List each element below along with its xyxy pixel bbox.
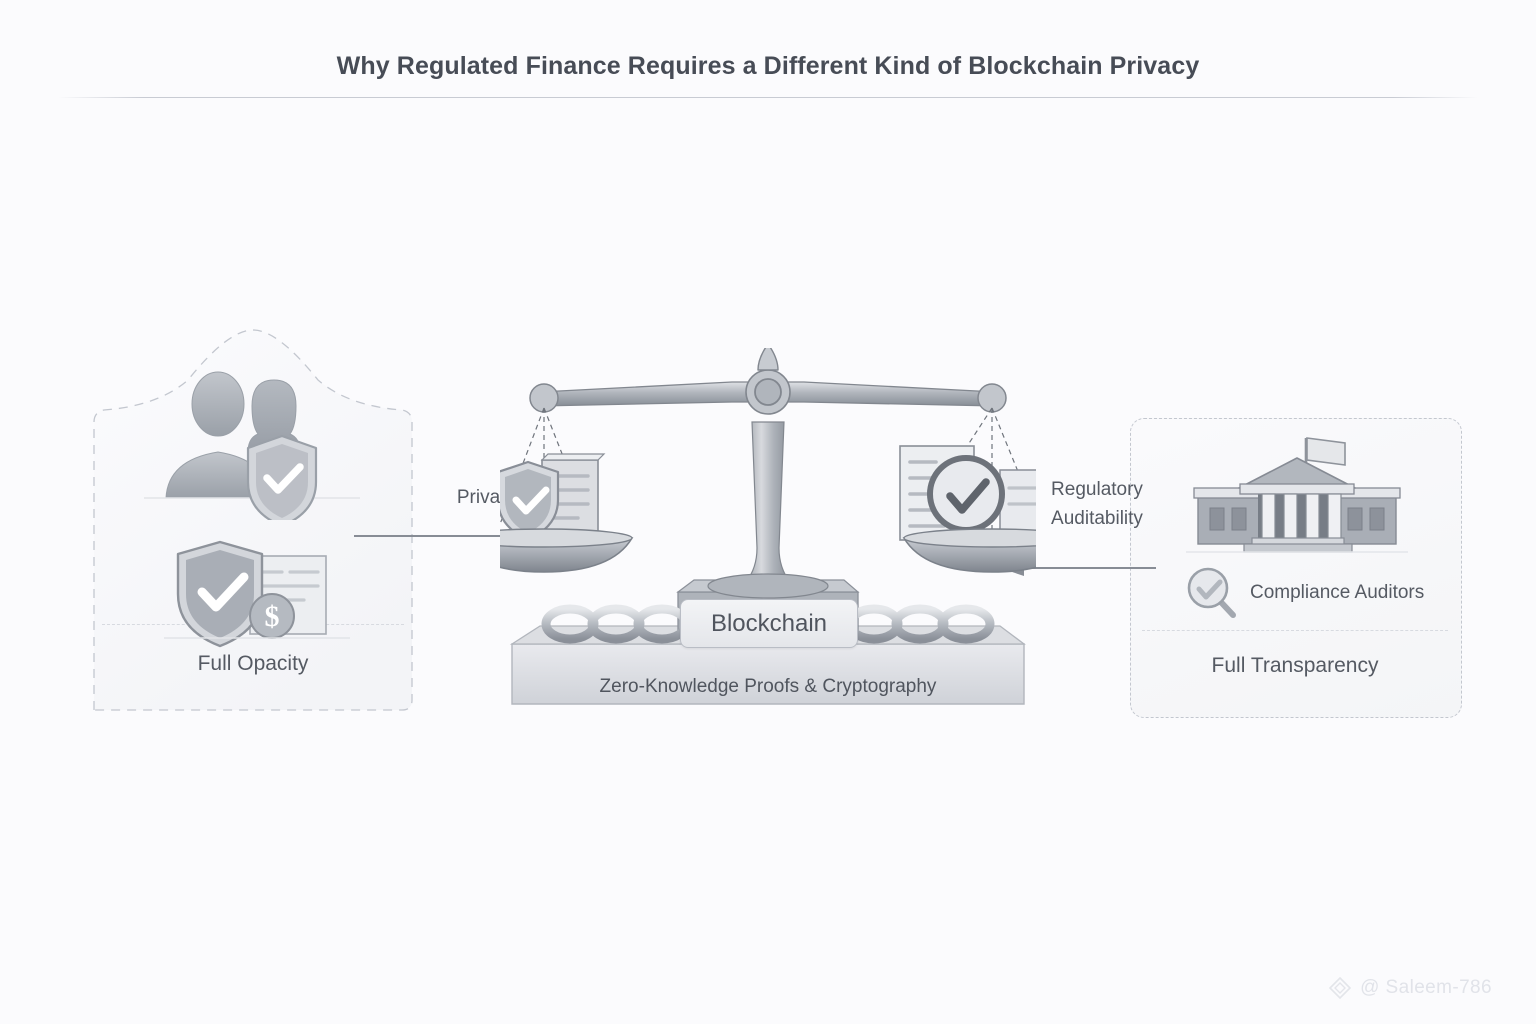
svg-text:$: $ (265, 600, 280, 633)
diamond-logo-icon (1328, 976, 1352, 1000)
arrow-auditability-line1: Regulatory (1051, 479, 1143, 500)
magnifier-check-icon (1186, 566, 1240, 620)
watermark: @ Saleem-786 (1328, 976, 1492, 1000)
two-users-icon (136, 360, 368, 520)
base-label: Zero-Knowledge Proofs & Cryptography (516, 663, 1020, 711)
compliance-auditors-label: Compliance Auditors (1250, 582, 1424, 604)
arrow-auditability-line2: Auditability (1051, 508, 1143, 529)
right-panel-label: Full Transparency (1130, 654, 1460, 678)
title-divider (58, 97, 1478, 98)
arrow-auditability-label: Regulatory Auditability (1012, 476, 1182, 533)
watermark-text: @ Saleem-786 (1360, 977, 1492, 999)
compliance-auditors-row: Compliance Auditors (1186, 566, 1424, 620)
government-building-icon (1182, 432, 1412, 564)
scales-of-justice-icon (500, 348, 1036, 716)
left-panel-label: Full Opacity (88, 652, 418, 676)
right-panel-inner-separator (1142, 630, 1448, 631)
page-title: Why Regulated Finance Requires a Differe… (0, 52, 1536, 81)
privacy-shield-check-icon (248, 436, 316, 520)
diagram-canvas: Why Regulated Finance Requires a Differe… (0, 0, 1536, 1024)
blockchain-label: Blockchain (680, 599, 858, 648)
shield-check-document-dollar-icon: $ (162, 540, 352, 650)
